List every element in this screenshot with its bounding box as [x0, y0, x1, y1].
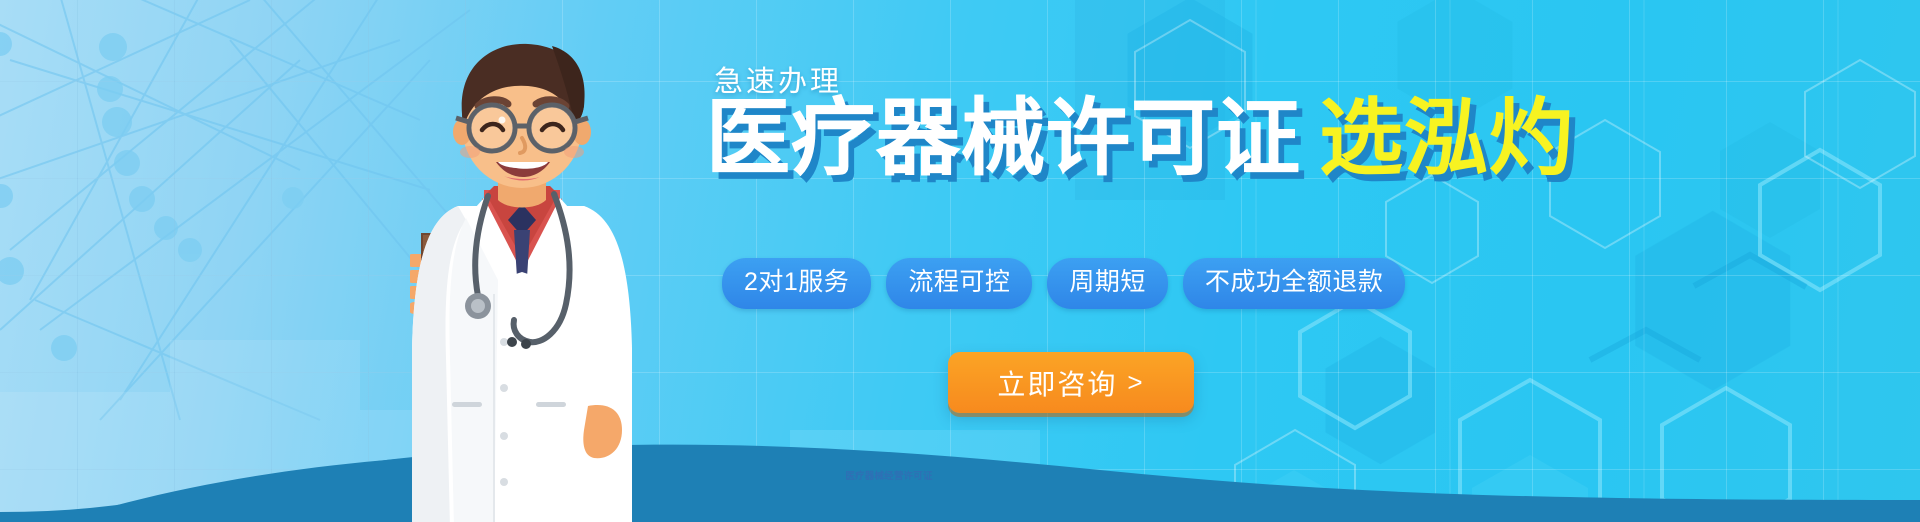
consult-now-button[interactable]: 立即咨询 >: [948, 352, 1194, 413]
feature-pill-1[interactable]: 2对1服务: [722, 258, 871, 309]
promo-banner: 医疗器械经营许可证: [0, 0, 1920, 522]
banner-content: 急速办理 医疗器械许可证选泓灼 2对1服务 流程可控 周期短 不成功全额退款 立…: [0, 0, 1920, 522]
feature-pill-2[interactable]: 流程可控: [886, 258, 1032, 309]
feature-pill-3[interactable]: 周期短: [1047, 258, 1168, 309]
headline-accent: 选泓灼: [1319, 91, 1574, 185]
headline: 医疗器械许可证选泓灼: [706, 96, 1574, 180]
consult-now-label: 立即咨询: [997, 363, 1117, 403]
feature-pill-list: 2对1服务 流程可控 周期短 不成功全额退款: [722, 258, 1405, 309]
chevron-right-icon: >: [1127, 367, 1144, 398]
feature-pill-4[interactable]: 不成功全额退款: [1183, 258, 1406, 309]
headline-main: 医疗器械许可证: [706, 91, 1301, 185]
